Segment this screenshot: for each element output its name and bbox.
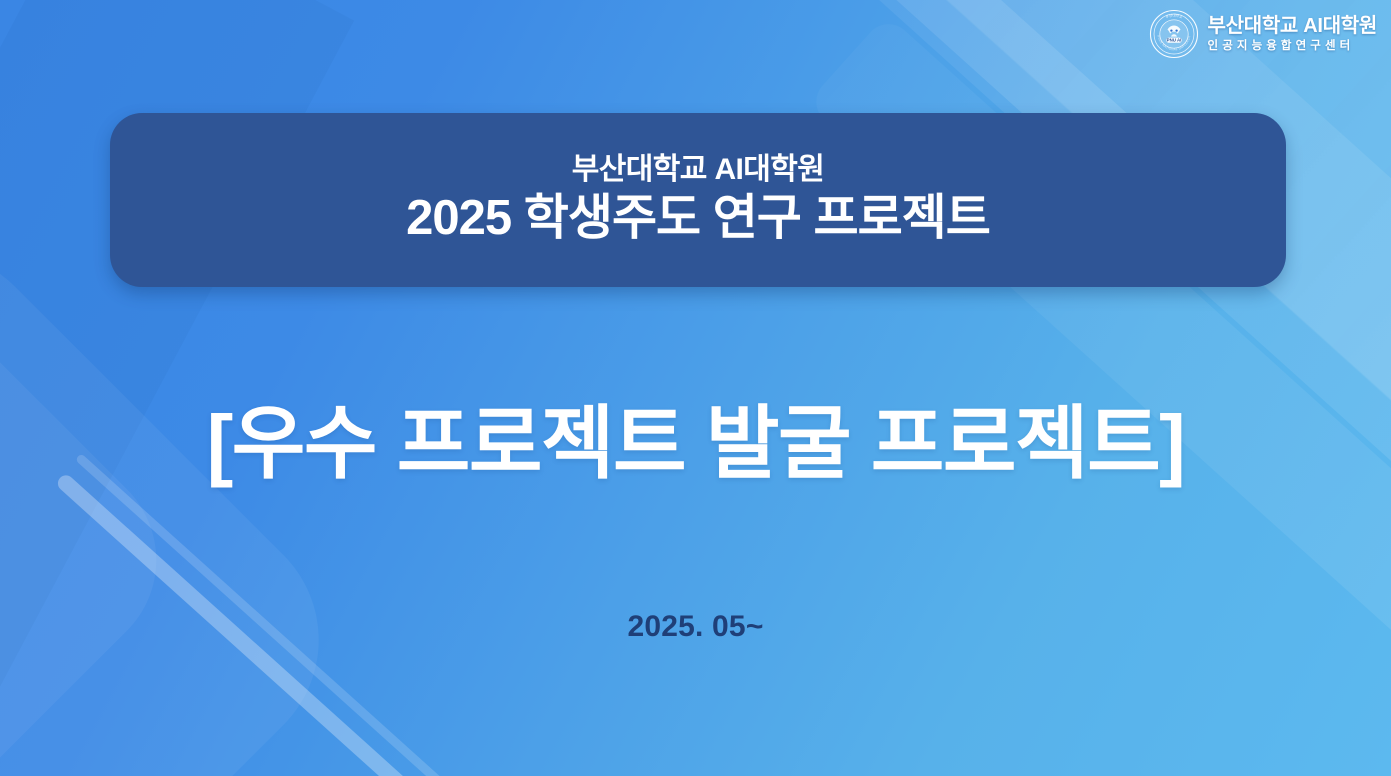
title-card-line-2: 2025 학생주도 연구 프로젝트 (406, 190, 990, 248)
logo-title: 부산대학교 AI대학원 (1208, 16, 1377, 36)
university-logo: PNU AI 부산대학교 PUSAN NATIONAL UNIVERSITY 부… (1149, 6, 1377, 62)
title-card-line-1: 부산대학교 AI대학원 (572, 152, 825, 188)
logo-subtitle: 인공지능융합연구센터 (1208, 41, 1377, 53)
svg-text:PNU AI: PNU AI (1166, 38, 1181, 43)
svg-text:부산대학교: 부산대학교 (1165, 13, 1184, 20)
date-text: 2025. 05~ (0, 610, 1391, 644)
background-band-upper-right-2 (651, 0, 1391, 631)
title-card: 부산대학교 AI대학원 2025 학생주도 연구 프로젝트 (110, 113, 1286, 287)
main-heading: [우수 프로젝트 발굴 프로젝트] (0, 398, 1391, 490)
presentation-slide: PNU AI 부산대학교 PUSAN NATIONAL UNIVERSITY 부… (0, 0, 1391, 776)
pnu-seal-icon: PNU AI 부산대학교 PUSAN NATIONAL UNIVERSITY (1149, 9, 1199, 59)
logo-text-block: 부산대학교 AI대학원 인공지능융합연구센터 (1208, 16, 1377, 53)
